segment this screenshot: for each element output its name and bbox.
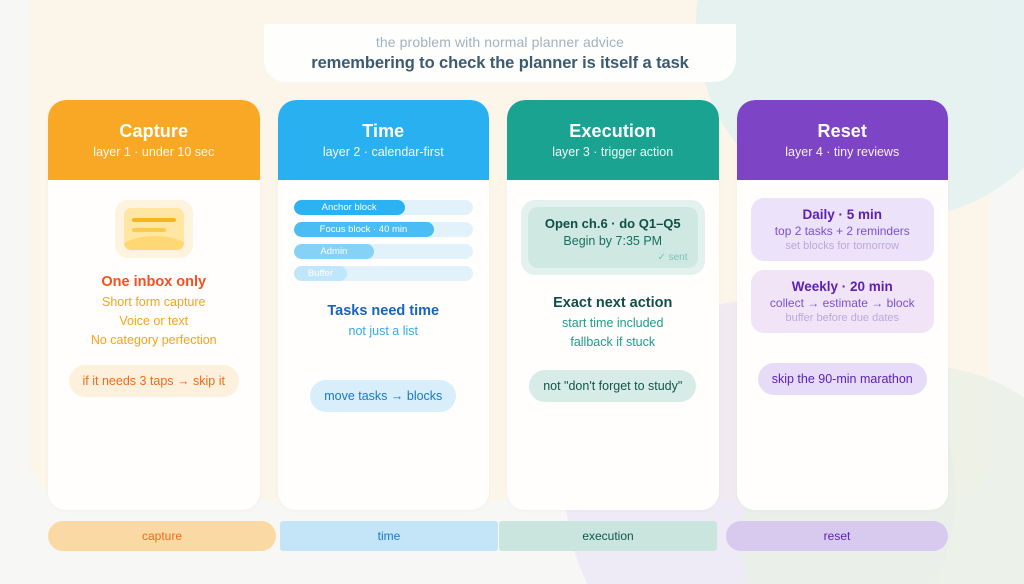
- time-block-row: Focus block · 40 min: [294, 222, 474, 237]
- inbox-icon-line-bottom: [132, 228, 166, 232]
- card-header-execution: Execution layer 3 · trigger action: [507, 100, 719, 180]
- execution-notification[interactable]: Open ch.6 · do Q1–Q5 Begin by 7:35 PM ✓ …: [528, 207, 698, 268]
- time-block-fill: Focus block · 40 min: [294, 222, 434, 237]
- inbox-icon-swoosh: [124, 236, 184, 250]
- card-body-execution: Open ch.6 · do Q1–Q5 Begin by 7:35 PM ✓ …: [507, 180, 719, 510]
- card-header-reset: Reset layer 4 · tiny reviews: [737, 100, 949, 180]
- header-kicker: the problem with normal planner advice: [376, 34, 624, 50]
- reset-review-daily[interactable]: Daily · 5 min top 2 tasks + 2 reminders …: [751, 198, 935, 261]
- reset-daily-sub: top 2 tasks + 2 reminders: [775, 224, 910, 238]
- time-block-label: Buffer: [308, 268, 333, 279]
- reset-weekly-title: Weekly · 20 min: [792, 279, 893, 294]
- time-text-stack: Tasks need time not just a list: [327, 303, 439, 338]
- time-headline: Tasks need time: [327, 303, 439, 319]
- notification-title: Open ch.6 · do Q1–Q5: [545, 216, 681, 231]
- footer-label-time[interactable]: time: [280, 521, 498, 551]
- execution-notification-wrapper: Open ch.6 · do Q1–Q5 Begin by 7:35 PM ✓ …: [521, 200, 705, 275]
- reset-review-weekly[interactable]: Weekly · 20 min collect → estimate → blo…: [751, 270, 935, 333]
- card-execution[interactable]: Execution layer 3 · trigger action Open …: [507, 100, 719, 510]
- capture-subline-1: Short form capture: [102, 295, 206, 309]
- time-block-fill: Anchor block: [294, 200, 405, 215]
- capture-headline: One inbox only: [101, 274, 206, 290]
- capture-subline-3: No category perfection: [91, 333, 217, 347]
- card-subtitle-capture: layer 1 · under 10 sec: [93, 145, 214, 159]
- time-pill[interactable]: move tasks → blocks: [310, 380, 456, 412]
- reset-daily-title: Daily · 5 min: [802, 207, 882, 222]
- execution-subline-2: fallback if stuck: [570, 335, 655, 349]
- time-block-list: Anchor block Focus block · 40 min Admin: [292, 200, 476, 281]
- layer-card-list: Capture layer 1 · under 10 sec One inbox…: [48, 100, 948, 510]
- inbox-icon-line-top: [132, 218, 176, 222]
- time-block-label: Anchor block: [322, 202, 377, 213]
- capture-pill[interactable]: if it needs 3 taps → skip it: [69, 365, 239, 397]
- time-block-row: Admin: [294, 244, 474, 259]
- footer-label-bar: capture time execution reset: [48, 521, 948, 551]
- reset-review-list: Daily · 5 min top 2 tasks + 2 reminders …: [751, 198, 935, 333]
- card-subtitle-time: layer 2 · calendar-first: [323, 145, 444, 159]
- reset-weekly-sub: collect → estimate → block: [770, 296, 915, 310]
- card-header-time: Time layer 2 · calendar-first: [278, 100, 490, 180]
- card-title-execution: Execution: [569, 121, 656, 142]
- time-block-label: Focus block · 40 min: [320, 224, 408, 235]
- inbox-icon-inner: [124, 208, 184, 250]
- time-block-fill: Buffer: [294, 266, 348, 281]
- time-block-row: Buffer: [294, 266, 474, 281]
- header-banner: the problem with normal planner advice r…: [264, 24, 736, 82]
- card-header-capture: Capture layer 1 · under 10 sec: [48, 100, 260, 180]
- card-body-time: Anchor block Focus block · 40 min Admin: [278, 180, 490, 510]
- card-title-reset: Reset: [817, 121, 867, 142]
- notification-subtitle: Begin by 7:35 PM: [563, 234, 662, 248]
- capture-subline-2: Voice or text: [119, 314, 188, 328]
- footer-label-reset[interactable]: reset: [726, 521, 948, 551]
- execution-headline: Exact next action: [553, 295, 672, 311]
- card-subtitle-reset: layer 4 · tiny reviews: [785, 145, 899, 159]
- card-body-reset: Daily · 5 min top 2 tasks + 2 reminders …: [737, 180, 949, 510]
- card-subtitle-execution: layer 3 · trigger action: [552, 145, 673, 159]
- footer-label-capture[interactable]: capture: [48, 521, 276, 551]
- card-capture[interactable]: Capture layer 1 · under 10 sec One inbox…: [48, 100, 260, 510]
- card-reset[interactable]: Reset layer 4 · tiny reviews Daily · 5 m…: [737, 100, 949, 510]
- footer-label-execution[interactable]: execution: [499, 521, 717, 551]
- reset-daily-note: set blocks for tomorrow: [785, 240, 899, 252]
- time-block-fill: Admin: [294, 244, 375, 259]
- header-title: remembering to check the planner is itse…: [311, 54, 689, 73]
- execution-pill[interactable]: not "don't forget to study": [529, 370, 696, 402]
- card-title-capture: Capture: [119, 121, 188, 142]
- time-subline-1: not just a list: [349, 324, 418, 338]
- infographic-canvas: the problem with normal planner advice r…: [0, 0, 1024, 584]
- card-body-capture: One inbox only Short form capture Voice …: [48, 180, 260, 510]
- card-time[interactable]: Time layer 2 · calendar-first Anchor blo…: [278, 100, 490, 510]
- card-title-time: Time: [362, 121, 404, 142]
- execution-subline-1: start time included: [562, 316, 663, 330]
- time-block-label: Admin: [320, 246, 347, 257]
- reset-weekly-note: buffer before due dates: [785, 312, 899, 324]
- inbox-icon: [115, 200, 193, 258]
- capture-text-stack: One inbox only Short form capture Voice …: [91, 274, 217, 347]
- reset-pill[interactable]: skip the 90-min marathon: [758, 363, 927, 395]
- notification-sent-status: ✓ sent: [657, 252, 687, 263]
- execution-text-stack: Exact next action start time included fa…: [553, 295, 672, 349]
- capture-visual: [62, 194, 246, 260]
- time-block-row: Anchor block: [294, 200, 474, 215]
